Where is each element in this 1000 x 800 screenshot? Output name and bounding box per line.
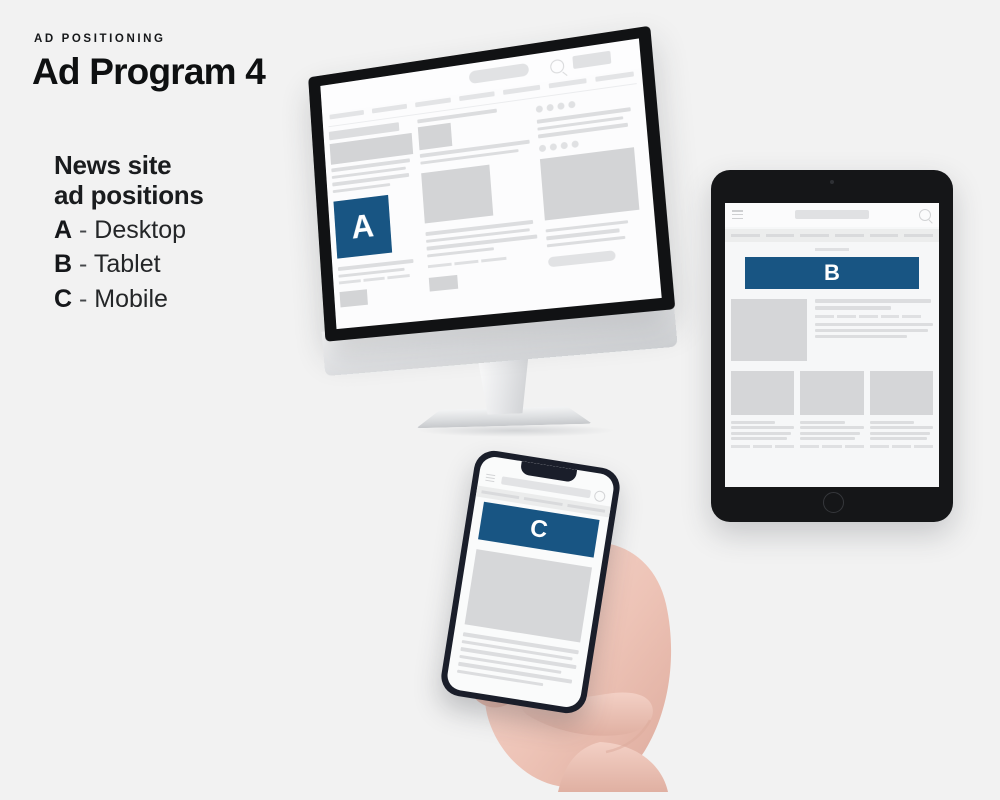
mobile-article-text — [457, 632, 579, 691]
meta-tag — [822, 445, 841, 448]
desktop-content: A — [329, 89, 655, 325]
sidebar-image — [540, 147, 639, 220]
text-line — [815, 323, 933, 326]
article-card[interactable] — [870, 371, 933, 466]
legend-dash-b: - — [79, 250, 87, 278]
legend-key-c: C — [54, 285, 72, 313]
social-icon[interactable] — [557, 102, 564, 110]
monitor-screen: A — [320, 38, 661, 329]
social-icon[interactable] — [536, 105, 543, 113]
thumbnail — [428, 275, 458, 292]
meta-tag — [775, 445, 794, 448]
card-image — [870, 371, 933, 415]
category-icon[interactable] — [539, 144, 546, 152]
nav-item[interactable] — [870, 234, 899, 238]
card-image — [731, 371, 794, 415]
text-line — [870, 432, 931, 435]
monitor-bezel: A — [308, 26, 675, 342]
ad-slot-tablet-label: B — [824, 262, 840, 284]
nav-item[interactable] — [766, 234, 795, 238]
category-icon[interactable] — [550, 143, 557, 151]
sidebar-button[interactable] — [548, 250, 616, 267]
meta-tag — [845, 445, 864, 448]
meta-tag-row — [731, 445, 794, 448]
meta-tag — [800, 445, 819, 448]
tablet-header-bar — [725, 203, 939, 227]
content-column-left: A — [329, 121, 425, 325]
meta-tag — [339, 279, 361, 284]
text-line — [731, 432, 791, 435]
ad-slot-desktop-label: A — [350, 209, 375, 244]
ad-slot-mobile-label: C — [528, 516, 549, 542]
text-line — [800, 426, 863, 429]
category-icon[interactable] — [560, 141, 568, 149]
meta-tag-row — [427, 257, 506, 268]
meta-tag-row — [870, 445, 933, 448]
search-icon[interactable] — [919, 209, 931, 221]
feature-image — [421, 165, 494, 224]
tablet-device: B — [711, 170, 953, 522]
text-line — [417, 109, 497, 124]
meta-tag — [902, 315, 921, 318]
desktop-news-wireframe: A — [320, 38, 661, 329]
card-title-line — [870, 421, 914, 424]
text-line — [731, 437, 787, 440]
ad-slot-desktop[interactable]: A — [333, 195, 392, 259]
social-icon[interactable] — [568, 101, 576, 109]
content-column-right — [535, 89, 655, 304]
card-title-line — [731, 421, 775, 424]
hero-image — [465, 549, 592, 642]
monitor-stand — [474, 355, 534, 415]
poster-canvas: AD POSITIONING Ad Program 4 News site ad… — [0, 0, 1000, 800]
hamburger-menu-icon[interactable] — [485, 474, 495, 482]
meta-tag — [753, 445, 772, 448]
tablet-hero-article — [731, 299, 933, 361]
legend-dash-c: - — [79, 285, 87, 313]
subscribe-button[interactable] — [572, 51, 611, 69]
nav-item[interactable] — [524, 497, 562, 506]
tablet-screen: B — [725, 203, 939, 487]
text-line — [870, 426, 933, 429]
meta-tag-row — [800, 445, 863, 448]
meta-tag — [870, 445, 889, 448]
nav-item[interactable] — [904, 234, 933, 238]
tablet-home-button[interactable] — [823, 492, 844, 513]
nav-item[interactable] — [731, 234, 760, 238]
category-icon[interactable] — [571, 140, 579, 148]
text-line — [800, 432, 860, 435]
article-card[interactable] — [731, 371, 794, 466]
tablet-card-grid — [731, 371, 933, 466]
text-line — [815, 329, 928, 332]
legend-key-b: B — [54, 250, 72, 278]
legend-dash-a: - — [79, 216, 87, 244]
card-title-line — [800, 421, 844, 424]
hamburger-menu-icon[interactable] — [732, 210, 743, 219]
text-line — [870, 437, 927, 440]
page-title: Ad Program 4 — [32, 51, 265, 93]
site-logo — [469, 63, 530, 84]
nav-item[interactable] — [481, 490, 519, 499]
meta-tag — [388, 274, 410, 279]
content-column-middle — [417, 104, 545, 316]
search-input[interactable] — [795, 210, 869, 219]
text-line — [815, 335, 907, 338]
legend-label-c: Mobile — [94, 285, 168, 313]
meta-tag — [363, 277, 385, 282]
meta-tag — [454, 260, 478, 266]
meta-tag — [914, 445, 933, 448]
desktop-monitor: A — [296, 44, 696, 454]
text-line — [800, 437, 854, 440]
meta-tag — [881, 315, 900, 318]
ad-slot-tablet[interactable]: B — [745, 257, 919, 289]
section-label — [815, 248, 849, 251]
text-line — [731, 426, 794, 429]
headline-line — [815, 306, 891, 310]
mobile-device-group: C — [430, 452, 715, 792]
tablet-camera — [830, 180, 834, 184]
legend-label-a: Desktop — [94, 216, 186, 244]
meta-tag — [815, 315, 834, 318]
meta-tag — [731, 445, 750, 448]
card-image — [800, 371, 863, 415]
meta-tag — [481, 257, 506, 263]
meta-tag — [837, 315, 856, 318]
tablet-nav[interactable] — [725, 229, 939, 242]
mobile-screen: C — [445, 455, 615, 709]
hero-image — [731, 299, 807, 361]
kicker-label: AD POSITIONING — [34, 33, 166, 45]
hero-text — [815, 299, 933, 361]
meta-tag-row — [815, 315, 921, 318]
nav-item[interactable] — [835, 234, 864, 238]
nav-item[interactable] — [800, 234, 829, 238]
nav-item[interactable] — [567, 504, 605, 513]
article-card[interactable] — [800, 371, 863, 466]
headline-line — [815, 299, 931, 303]
thumbnail — [340, 289, 369, 307]
meta-tag — [859, 315, 878, 318]
article-image — [417, 123, 452, 151]
search-icon[interactable] — [549, 59, 564, 75]
meta-tag — [427, 263, 451, 269]
search-icon[interactable] — [593, 490, 606, 503]
legend-label-b: Tablet — [94, 250, 161, 278]
social-icon[interactable] — [546, 104, 553, 112]
legend-key-a: A — [54, 216, 72, 244]
meta-tag — [892, 445, 911, 448]
